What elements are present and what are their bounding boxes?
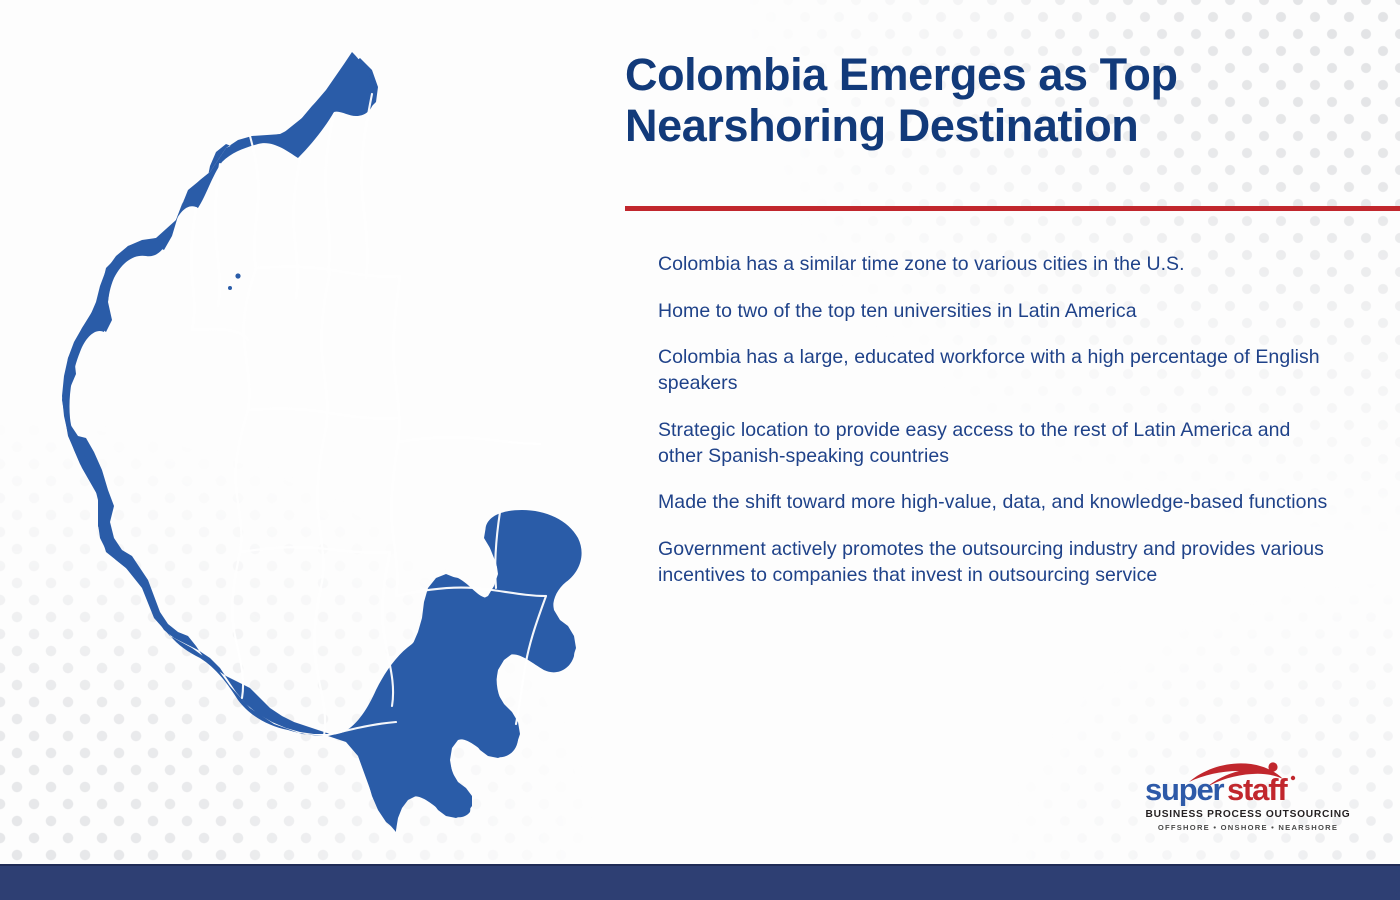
list-item: Home to two of the top ten universities … [658, 299, 1328, 325]
logo-word-secondary: staff [1227, 772, 1288, 806]
list-item: Colombia has a similar time zone to vari… [658, 252, 1328, 278]
island-dot-2 [228, 286, 232, 290]
logo-tagline: BUSINESS PROCESS OUTSOURCING [1143, 809, 1353, 820]
bottom-bar [0, 864, 1400, 900]
registered-mark-icon [1291, 776, 1295, 780]
colombia-outline [62, 52, 582, 832]
page-title: Colombia Emerges as Top Nearshoring Dest… [625, 50, 1315, 152]
island-dot-1 [235, 273, 240, 278]
list-item: Strategic location to provide easy acces… [658, 418, 1328, 469]
logo-word-primary: super [1145, 772, 1225, 806]
colombia-map [60, 40, 620, 840]
logo-wordmark: super staff [1143, 762, 1343, 806]
content-column: Colombia Emerges as Top Nearshoring Dest… [625, 50, 1365, 152]
infographic-poster: Colombia Emerges as Top Nearshoring Dest… [0, 0, 1400, 900]
list-item: Government actively promotes the outsour… [658, 537, 1328, 588]
benefits-list: Colombia has a similar time zone to vari… [658, 252, 1328, 589]
red-divider-rule [625, 206, 1400, 211]
list-item: Colombia has a large, educated workforce… [658, 345, 1328, 396]
superstaff-logo: super staff BUSINESS PROCESS OUTSOURCING… [1143, 762, 1353, 842]
list-item: Made the shift toward more high-value, d… [658, 490, 1328, 516]
logo-services: OFFSHORE • ONSHORE • NEARSHORE [1143, 823, 1353, 832]
swoosh-dot-icon [1268, 762, 1277, 771]
